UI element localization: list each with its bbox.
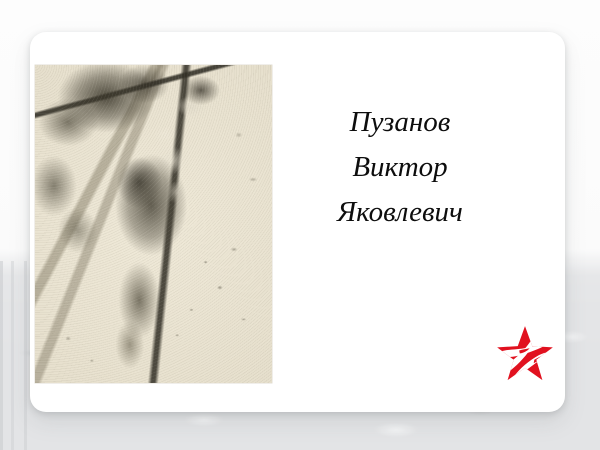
- memorial-card: Пузанов Виктор Яковлевич: [30, 32, 565, 412]
- red-star-icon: [496, 324, 554, 384]
- memorial-slide: Пузанов Виктор Яковлевич: [0, 0, 600, 450]
- veteran-name-block: Пузанов Виктор Яковлевич: [280, 100, 520, 235]
- veteran-given-name: Виктор: [280, 145, 520, 190]
- veteran-patronymic: Яковлевич: [280, 190, 520, 235]
- soldier-photograph[interactable]: [35, 65, 272, 383]
- veteran-surname: Пузанов: [280, 100, 520, 145]
- photograph-grain-overlay: [35, 65, 272, 383]
